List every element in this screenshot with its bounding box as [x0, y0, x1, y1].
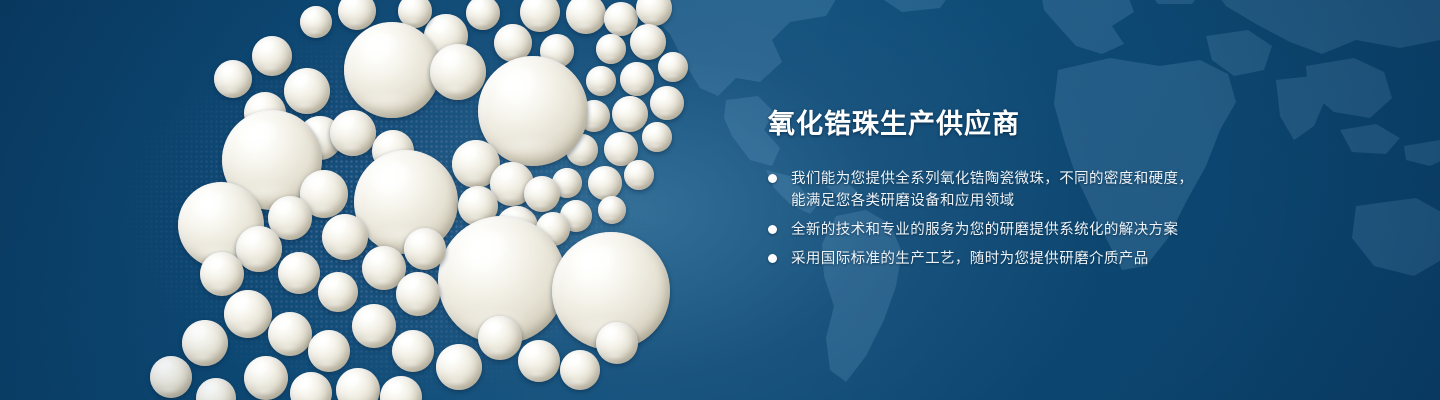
feature-bullet-list: 我们能为您提供全系列氧化锆陶瓷微珠，不同的密度和硬度， 能满足您各类研磨设备和应…	[768, 168, 1368, 270]
bullet-text-line: 全新的技术和专业的服务为您的研磨提供系统化的解决方案	[791, 219, 1368, 241]
page-title: 氧化锆珠生产供应商	[768, 108, 1368, 142]
bullet-dot-icon	[768, 225, 777, 234]
list-item: 我们能为您提供全系列氧化锆陶瓷微珠，不同的密度和硬度， 能满足您各类研磨设备和应…	[768, 168, 1368, 212]
bullet-dot-icon	[768, 254, 777, 263]
hero-banner: 氧化锆珠生产供应商 我们能为您提供全系列氧化锆陶瓷微珠，不同的密度和硬度， 能满…	[0, 0, 1440, 400]
bullet-dot-icon	[768, 174, 777, 183]
list-item: 采用国际标准的生产工艺，随时为您提供研磨介质产品	[768, 248, 1368, 270]
list-item: 全新的技术和专业的服务为您的研磨提供系统化的解决方案	[768, 219, 1368, 241]
banner-copy-block: 氧化锆珠生产供应商 我们能为您提供全系列氧化锆陶瓷微珠，不同的密度和硬度， 能满…	[768, 108, 1368, 270]
bullet-text-line: 能满足您各类研磨设备和应用领域	[791, 190, 1368, 212]
bullet-text-line: 采用国际标准的生产工艺，随时为您提供研磨介质产品	[791, 248, 1368, 270]
bullet-text-line: 我们能为您提供全系列氧化锆陶瓷微珠，不同的密度和硬度，	[791, 168, 1368, 190]
